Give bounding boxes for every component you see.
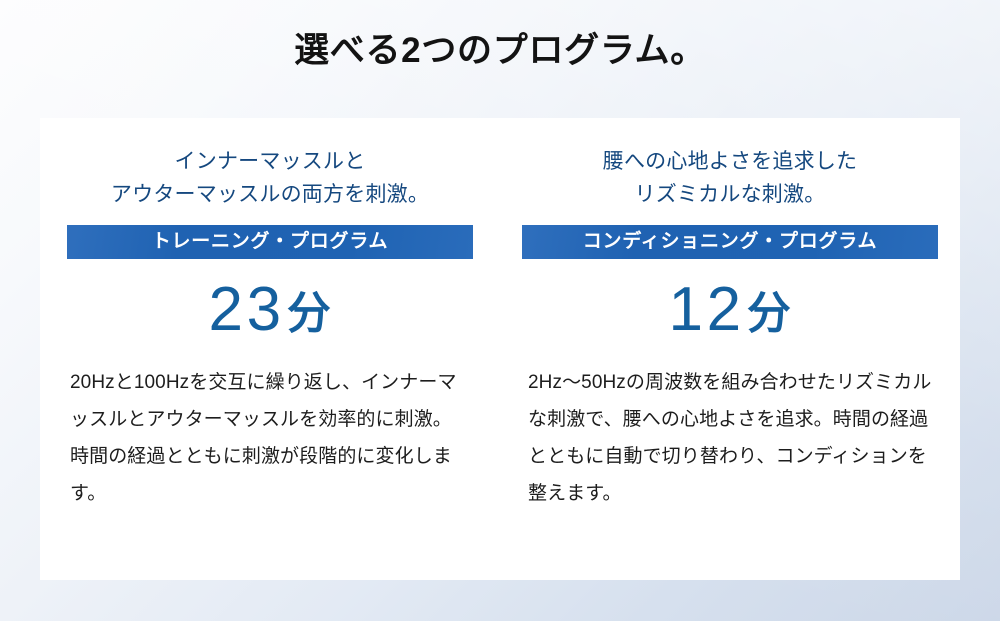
program-badge-training: トレーニング・プログラム bbox=[67, 225, 473, 259]
programs-card: インナーマッスルと アウターマッスルの両方を刺激。 トレーニング・プログラム 2… bbox=[40, 118, 960, 580]
duration-value: 23 bbox=[208, 277, 284, 342]
program-heading-line-1: 腰への心地よさを追求した bbox=[603, 146, 858, 179]
program-heading-line-2: リズミカルな刺激。 bbox=[603, 179, 858, 212]
page-title: 選べる2つのプログラム。 bbox=[0, 28, 1000, 74]
duration-unit: 分 bbox=[747, 291, 792, 337]
program-heading-line-1: インナーマッスルと bbox=[111, 146, 429, 179]
program-heading-conditioning: 腰への心地よさを追求した リズミカルな刺激。 bbox=[603, 146, 858, 211]
program-description-training: 20Hzと100Hzを交互に繰り返し、インナーマッスルとアウターマッスルを効率的… bbox=[70, 364, 470, 512]
duration-value: 12 bbox=[668, 277, 744, 342]
program-badge-conditioning: コンディショニング・プログラム bbox=[522, 225, 938, 259]
program-duration-training: 23分 bbox=[208, 277, 331, 342]
program-description-conditioning: 2Hz〜50Hzの周波数を組み合わせたリズミカルな刺激で、腰への心地よさを追求。… bbox=[528, 364, 932, 512]
program-heading-line-2: アウターマッスルの両方を刺激。 bbox=[111, 179, 429, 212]
program-column-training: インナーマッスルと アウターマッスルの両方を刺激。 トレーニング・プログラム 2… bbox=[40, 118, 500, 580]
program-heading-training: インナーマッスルと アウターマッスルの両方を刺激。 bbox=[111, 146, 429, 211]
duration-unit: 分 bbox=[287, 291, 332, 337]
program-column-conditioning: 腰への心地よさを追求した リズミカルな刺激。 コンディショニング・プログラム 1… bbox=[500, 118, 960, 580]
program-duration-conditioning: 12分 bbox=[668, 277, 791, 342]
